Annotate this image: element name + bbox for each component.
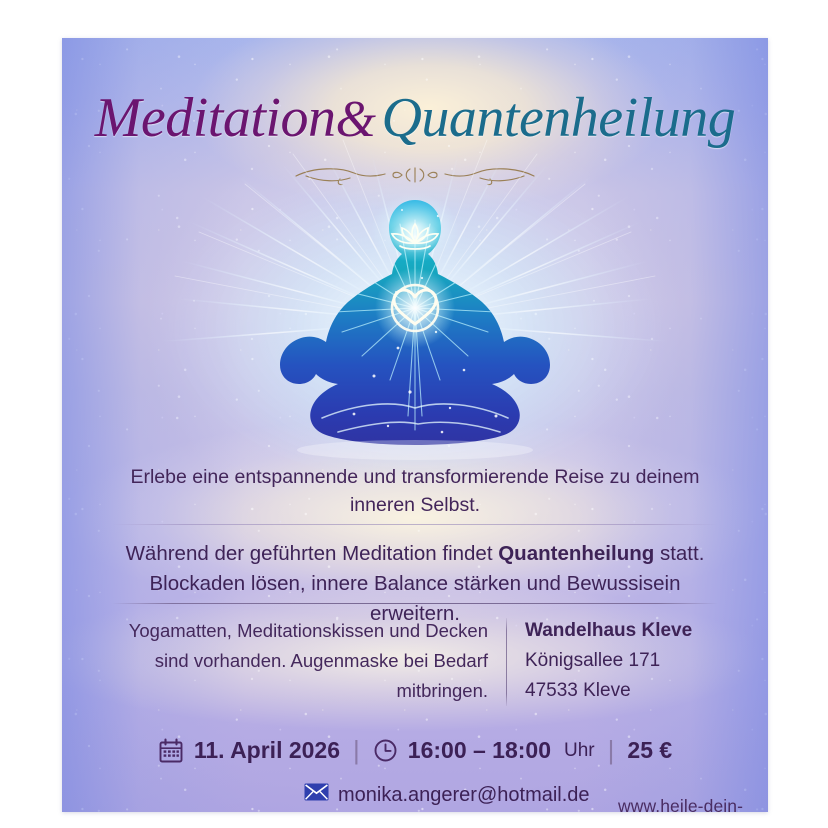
meditating-lotus-figure-icon	[205, 166, 625, 466]
event-date: 11. April 2026	[194, 737, 340, 764]
heart-chakra-icon	[375, 268, 455, 348]
lotus-flower-icon	[389, 221, 441, 253]
divider-upper	[112, 524, 718, 525]
info-columns: Yogamatten, Meditationskissen und Decken…	[106, 616, 724, 706]
email-text: monika.angerer@hotmail.de	[338, 784, 590, 807]
intro-text: Erlebe eine entspannende und transformie…	[106, 463, 724, 519]
calendar-icon	[158, 738, 184, 764]
divider-lower	[112, 603, 718, 604]
main-text-highlight: Quantenheilung	[498, 542, 654, 565]
event-time: 16:00 – 18:00	[408, 737, 551, 764]
venue-name: Wandelhaus Kleve	[525, 616, 724, 646]
event-meta-row: 11. April 2026 | 16:00 – 18:00 Uhr | 25 …	[62, 735, 768, 766]
clock-icon	[373, 738, 398, 763]
event-time-suffix: Uhr	[564, 740, 595, 762]
venue-block: Wandelhaus Kleve Königsallee 171 47533 K…	[507, 616, 724, 706]
venue-street: Königsallee 171	[525, 646, 724, 676]
meta-separator-2: |	[608, 735, 615, 766]
main-text-pre: Während der geführten Meditation findet	[126, 542, 499, 565]
lotus-pose-silhouette-icon	[250, 180, 580, 460]
main-text-line-1: Während der geführten Meditation findet …	[106, 539, 724, 569]
event-price: 25 €	[627, 737, 672, 764]
venue-city: 47533 Kleve	[525, 676, 724, 706]
mail-icon	[304, 783, 329, 807]
email-line[interactable]: monika.angerer@hotmail.de	[304, 783, 590, 807]
meta-separator-1: |	[353, 735, 360, 766]
main-text-post: statt.	[654, 542, 704, 565]
website-text[interactable]: www.heile-dein-ich.de	[618, 796, 768, 812]
flyer-poster: Meditation&Quantenheilung	[62, 38, 768, 812]
equipment-note: Yogamatten, Meditationskissen und Decken…	[106, 616, 506, 706]
